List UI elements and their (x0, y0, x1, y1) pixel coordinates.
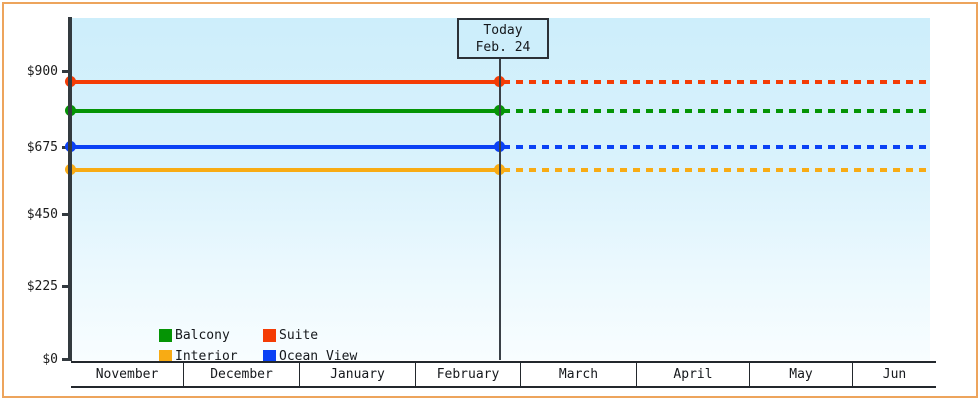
legend-label-suite: Suite (279, 328, 318, 343)
y-axis-label-0: $0 (0, 352, 58, 367)
chart-frame: $900 $675 $450 $225 $0 (0, 0, 980, 400)
chart-legend: Balcony Suite Interior Ocean View (159, 328, 357, 364)
y-axis-label-450: $450 (0, 207, 58, 222)
legend-item-suite[interactable]: Suite (263, 328, 357, 343)
y-axis-label-text: $675 (0, 140, 58, 155)
month-cell-november[interactable]: November (71, 363, 184, 386)
y-axis-label-225: $225 (0, 279, 58, 294)
month-cell-jun[interactable]: Jun (853, 363, 936, 386)
today-tooltip-line1: Today (483, 22, 522, 39)
series-line-suite-dashed (503, 80, 930, 84)
y-axis-spine (68, 17, 72, 361)
legend-swatch-balcony-icon (159, 329, 172, 342)
series-line-suite-solid (68, 80, 502, 84)
y-axis-label-text: $0 (0, 352, 58, 367)
series-line-ocean-view-solid (68, 145, 502, 149)
today-vertical-line (499, 56, 501, 360)
y-axis-label-text: $450 (0, 207, 58, 222)
series-line-balcony-dashed (503, 109, 930, 113)
month-axis: November December January February March… (71, 361, 936, 388)
legend-swatch-suite-icon (263, 329, 276, 342)
y-axis-label-900: $900 (0, 64, 58, 79)
y-axis-label-text: $900 (0, 64, 58, 79)
y-axis-label-675: $675 (0, 140, 58, 155)
series-line-interior-solid (68, 168, 502, 172)
series-line-ocean-view-dashed (503, 145, 930, 149)
legend-label-balcony: Balcony (175, 328, 230, 343)
today-tooltip-line2: Feb. 24 (476, 39, 531, 56)
today-tooltip[interactable]: Today Feb. 24 (457, 18, 549, 59)
series-line-interior-dashed (503, 168, 930, 172)
month-cell-march[interactable]: March (521, 363, 637, 386)
series-line-balcony-solid (68, 109, 502, 113)
legend-item-balcony[interactable]: Balcony (159, 328, 263, 343)
month-cell-april[interactable]: April (637, 363, 750, 386)
month-cell-february[interactable]: February (416, 363, 521, 386)
y-axis-label-text: $225 (0, 279, 58, 294)
month-cell-january[interactable]: January (300, 363, 416, 386)
month-cell-may[interactable]: May (750, 363, 853, 386)
month-cell-december[interactable]: December (184, 363, 300, 386)
